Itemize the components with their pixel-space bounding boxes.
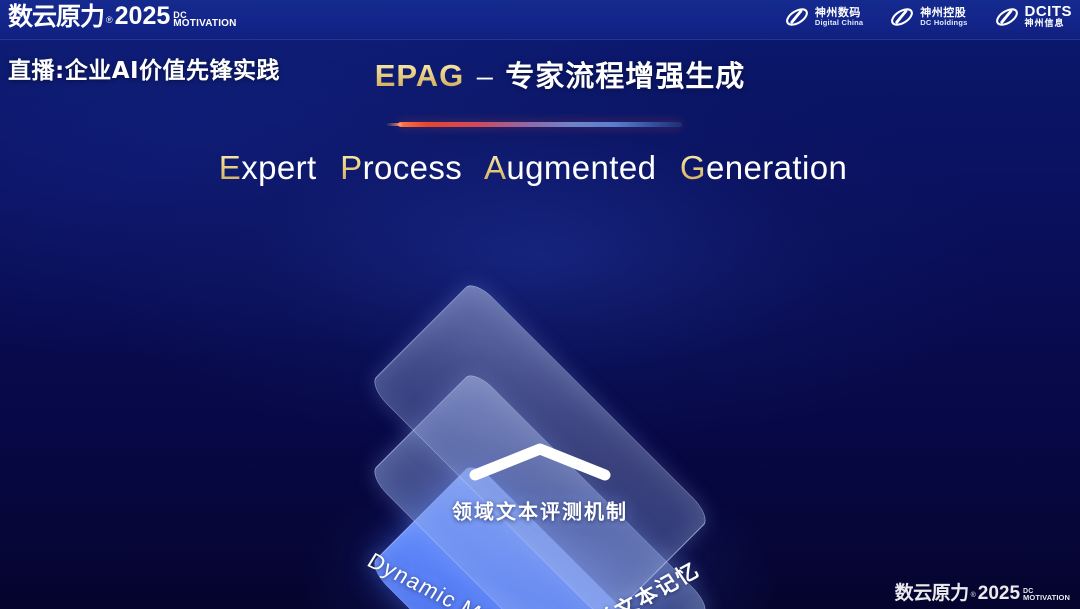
watermark-dc-motivation: DC MOTIVATION: [1023, 589, 1070, 602]
brand-year: 2025: [115, 4, 171, 29]
partner-labels: 神州控股 DC Holdings: [920, 7, 967, 26]
watermark-motivation-label: MOTIVATION: [1023, 595, 1070, 602]
title-chinese: 专家流程增强生成: [505, 59, 745, 93]
partner-logos: 神州数码 Digital China 神州控股 DC Holdings: [784, 4, 1072, 30]
swoosh-logo-icon: [784, 4, 810, 30]
word-initial: G: [680, 149, 706, 186]
live-stream-subtitle: 直播:企业AI价值先锋实践: [8, 51, 280, 85]
brand-dc-motivation: DC MOTIVATION: [173, 11, 236, 28]
word-initial: P: [340, 149, 362, 186]
partner-name-en: 神州信息: [1025, 20, 1073, 29]
word-body: ugmented: [506, 149, 656, 186]
swoosh-logo-icon: [994, 4, 1020, 30]
word-initial: A: [484, 149, 506, 186]
partner-labels: DCITS 神州信息: [1025, 4, 1073, 29]
title-divider: [398, 122, 682, 127]
partner-name-en: Digital China: [815, 19, 863, 27]
subtitle-word-generation: Generation: [680, 149, 847, 186]
header-bar: 数云原力 ® 2025 DC MOTIVATION 神州数码 Digital C…: [0, 0, 1080, 40]
slide-canvas: 数云原力 ® 2025 DC MOTIVATION 神州数码 Digital C…: [0, 0, 1080, 609]
partner-logo-digital-china: 神州数码 Digital China: [784, 4, 863, 30]
watermark-reg-mark: ®: [971, 588, 976, 603]
brand-name-cn: 数云原力: [8, 4, 104, 29]
registered-mark: ®: [106, 12, 113, 29]
partner-labels: 神州数码 Digital China: [815, 7, 863, 26]
word-body: rocess: [363, 149, 463, 186]
brand-logo: 数云原力 ® 2025 DC MOTIVATION: [8, 4, 237, 29]
subtitle-word-augmented: Augmented: [484, 149, 656, 186]
title-acronym: EPAG: [375, 58, 465, 93]
title-dash: –: [477, 61, 493, 93]
watermark-name-cn: 数云原力: [895, 584, 969, 603]
subtitle-word-process: Process: [340, 149, 462, 186]
word-body: eneration: [706, 149, 847, 186]
word-initial: E: [219, 149, 241, 186]
partner-name-cn: DCITS: [1025, 4, 1073, 20]
watermark-logo: 数云原力 ® 2025 DC MOTIVATION: [895, 584, 1070, 603]
layered-stack-diagram: 领域文本评测机制 Dynamic MOE 长文本记忆 三类语义建模模块: [280, 386, 800, 609]
subtitle-word-expert: Expert: [219, 149, 317, 186]
partner-name-en: DC Holdings: [920, 19, 967, 27]
watermark-year: 2025: [978, 584, 1020, 603]
brand-motivation-label: MOTIVATION: [173, 19, 236, 28]
partner-logo-dc-holdings: 神州控股 DC Holdings: [889, 4, 967, 30]
partner-logo-dcits: DCITS 神州信息: [994, 4, 1073, 30]
chevron-up-icon: [465, 439, 615, 483]
word-body: xpert: [241, 149, 316, 186]
swoosh-logo-icon: [889, 4, 915, 30]
english-subtitle: Expert Process Augmented Generation: [0, 149, 1080, 187]
